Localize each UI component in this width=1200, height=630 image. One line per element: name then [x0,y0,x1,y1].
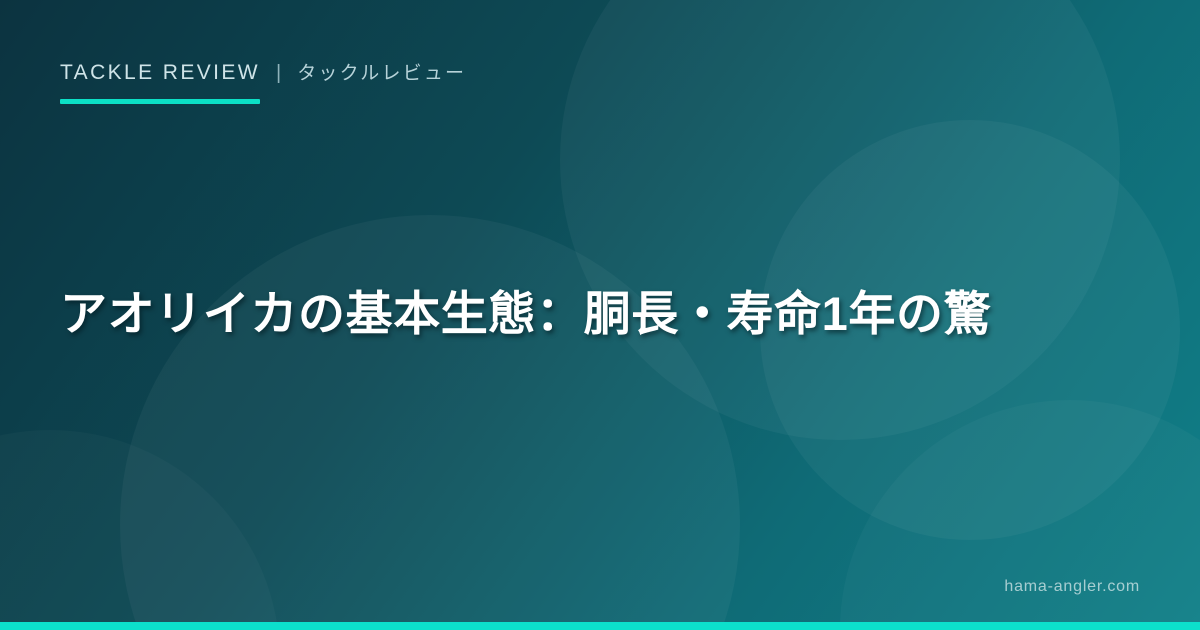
accent-underline [60,99,260,104]
category-label-en: TACKLE REVIEW [60,61,260,85]
bottom-accent-strip [0,622,1200,630]
category-label-ja: タックルレビュー [297,58,466,85]
category-eyebrow: TACKLE REVIEW | タックルレビュー [60,58,466,85]
site-domain: hama-angler.com [1004,578,1140,596]
eyebrow-separator: | [276,62,281,85]
page-title: アオリイカの基本生態：胴長・寿命1年の驚 [60,283,1140,346]
card-content: TACKLE REVIEW | タックルレビュー アオリイカの基本生態：胴長・寿… [0,0,1200,630]
og-card: TACKLE REVIEW | タックルレビュー アオリイカの基本生態：胴長・寿… [0,0,1200,630]
